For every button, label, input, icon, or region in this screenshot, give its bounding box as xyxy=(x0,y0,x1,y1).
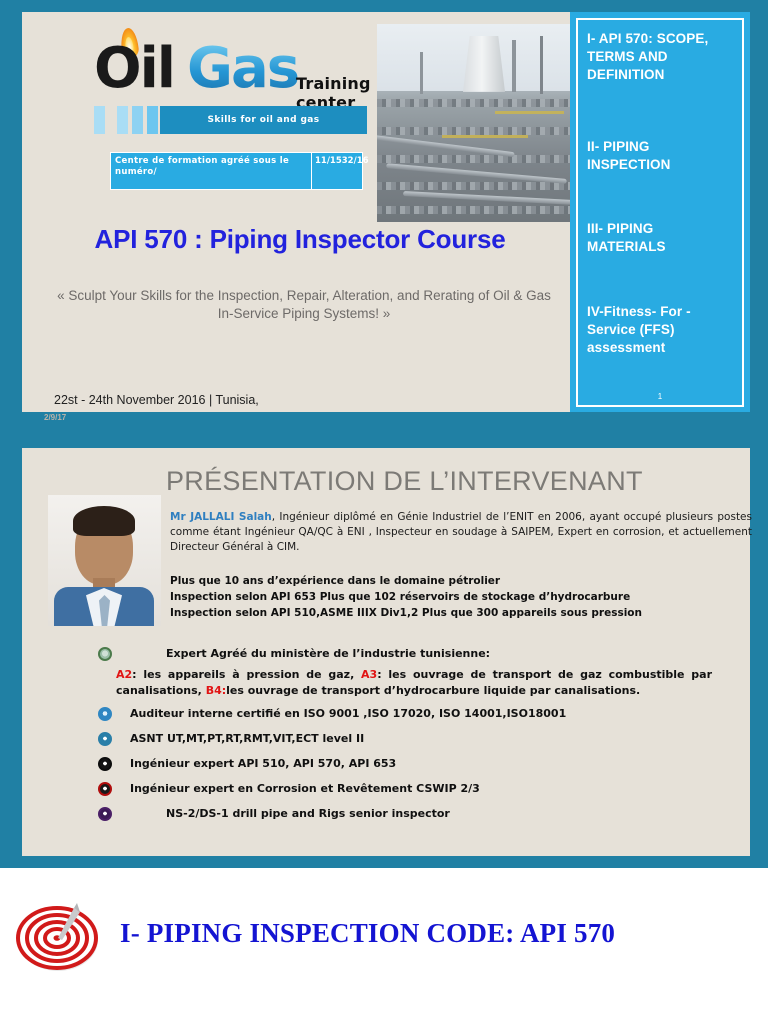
speaker-bio: Mr JALLALI Salah, Ingénieur diplômé en G… xyxy=(170,510,752,555)
bullet-ring-blue-icon xyxy=(98,707,112,721)
section-banner: I- PIPING INSPECTION CODE: API 570 xyxy=(0,868,768,1024)
bullet-ring-black-icon xyxy=(98,757,112,771)
logo-word-oil: Oil xyxy=(94,36,174,101)
accreditation-number: 11/1532/16 xyxy=(312,153,362,189)
target-dartboard-icon xyxy=(14,890,106,976)
category-code-b4: B4: xyxy=(206,684,226,697)
bullet-ring-red-icon xyxy=(98,782,112,796)
photo-stack-1 xyxy=(512,40,516,92)
category-text-a2: : les appareils à pression de gaz, xyxy=(132,668,361,681)
photo-yellow-rail-1 xyxy=(442,135,528,138)
credential-api-expert: Ingénieur expert API 510, API 570, API 6… xyxy=(130,756,396,772)
speaker-highlight-2: Inspection selon API 653 Plus que 102 ré… xyxy=(170,590,730,606)
oilgas-logo: Oil Gas Training center Skills for oil a… xyxy=(84,30,374,150)
category-text-b4: les ouvrage de transport d’hydrocarbure … xyxy=(226,684,640,697)
photo-structure-1 xyxy=(377,99,592,107)
speaker-portrait xyxy=(48,495,161,626)
list-item: Auditeur interne certifié en ISO 9001 ,I… xyxy=(98,706,746,722)
speaker-highlight-3: Inspection selon API 510,ASME IIIX Div1,… xyxy=(170,606,730,622)
photo-structure-4 xyxy=(377,182,592,190)
photo-stack-2 xyxy=(420,52,423,94)
speaker-section-title: PRÉSENTATION DE L’INTERVENANT xyxy=(166,466,643,497)
speaker-highlights: Plus que 10 ans d’expérience dans le dom… xyxy=(170,574,730,621)
logo-bar-4 xyxy=(147,106,158,134)
slide-deck-background: Oil Gas Training center Skills for oil a… xyxy=(0,0,768,868)
list-item: NS-2/DS-1 drill pipe and Rigs senior ins… xyxy=(98,806,746,822)
photo-cooling-tower xyxy=(463,36,505,92)
logo-bar-3 xyxy=(132,106,143,134)
photo-pipe-3 xyxy=(403,191,592,206)
credential-drill-pipe: NS-2/DS-1 drill pipe and Rigs senior ins… xyxy=(166,806,450,822)
photo-yellow-rail-2 xyxy=(495,111,564,114)
photo-structure-5 xyxy=(377,206,592,214)
slide-1: Oil Gas Training center Skills for oil a… xyxy=(22,12,750,412)
agenda-item-3[interactable]: III- PIPING MATERIALS xyxy=(587,220,734,256)
logo-tagline: Skills for oil and gas xyxy=(160,106,367,134)
banner-title: I- PIPING INSPECTION CODE: API 570 xyxy=(120,918,615,949)
credentials-list: Expert Agréé du ministère de l’industrie… xyxy=(98,646,746,822)
logo-word-gas: Gas xyxy=(187,36,298,101)
photo-structure-2 xyxy=(377,127,592,135)
bullet-ring-purple-icon xyxy=(98,807,112,821)
accreditation-label: Centre de formation agréé sous le numéro… xyxy=(111,153,312,189)
photo-structure-3 xyxy=(377,155,592,163)
portrait-hair xyxy=(73,506,135,536)
agenda-item-4[interactable]: IV-Fitness- For -Service (FFS) assessmen… xyxy=(587,303,734,357)
course-subtitle: « Sculpt Your Skills for the Inspection,… xyxy=(56,287,552,323)
speaker-highlight-1: Plus que 10 ans d’expérience dans le dom… xyxy=(170,574,730,590)
bullet-ring-green-icon xyxy=(98,647,112,661)
speaker-name: Mr JALLALI Salah xyxy=(170,511,272,523)
list-item: Ingénieur expert API 510, API 570, API 6… xyxy=(98,756,746,772)
list-item: Expert Agréé du ministère de l’industrie… xyxy=(98,646,746,662)
course-title: API 570 : Piping Inspector Course xyxy=(50,224,550,255)
logo-bar-1 xyxy=(94,106,105,134)
list-item: Ingénieur expert en Corrosion et Revêtem… xyxy=(98,781,746,797)
refinery-photo xyxy=(377,24,592,222)
accreditation-table: Centre de formation agréé sous le numéro… xyxy=(110,152,363,190)
slide-page-number: 1 xyxy=(578,392,742,401)
photo-pipe-2 xyxy=(386,163,566,184)
credential-expert-label: Expert Agréé du ministère de l’industrie… xyxy=(166,646,490,662)
slide-date-stamp: 2/9/17 xyxy=(44,413,66,422)
logo-bar-2 xyxy=(117,106,128,134)
slide-2: PRÉSENTATION DE L’INTERVENANT Mr JALLALI… xyxy=(22,448,750,856)
agenda-item-2[interactable]: II- PIPING INSPECTION xyxy=(587,138,734,174)
category-code-a2: A2 xyxy=(116,668,132,681)
agenda-sidebar-inner: I- API 570: SCOPE, TERMS AND DEFINITION … xyxy=(576,18,744,407)
category-code-a3: A3 xyxy=(361,668,377,681)
bullet-ring-teal-icon xyxy=(98,732,112,746)
agenda-item-1[interactable]: I- API 570: SCOPE, TERMS AND DEFINITION xyxy=(587,30,734,84)
logo-wordmark-row: Oil Gas Training center xyxy=(84,30,374,104)
agenda-sidebar: I- API 570: SCOPE, TERMS AND DEFINITION … xyxy=(570,12,750,412)
credential-categories: A2: les appareils à pression de gaz, A3:… xyxy=(116,667,712,700)
photo-stack-3 xyxy=(540,36,543,94)
list-item: ASNT UT,MT,PT,RT,RMT,VIT,ECT level II xyxy=(98,731,746,747)
slide-1-main-area: Oil Gas Training center Skills for oil a… xyxy=(22,12,570,412)
credential-asnt: ASNT UT,MT,PT,RT,RMT,VIT,ECT level II xyxy=(130,731,364,747)
logo-bars-row: Skills for oil and gas xyxy=(84,106,374,136)
course-date-location: 22st - 24th November 2016 | Tunisia, xyxy=(54,393,259,407)
credential-corrosion: Ingénieur expert en Corrosion et Revêtem… xyxy=(130,781,480,797)
credential-iso-auditor: Auditeur interne certifié en ISO 9001 ,I… xyxy=(130,706,566,722)
